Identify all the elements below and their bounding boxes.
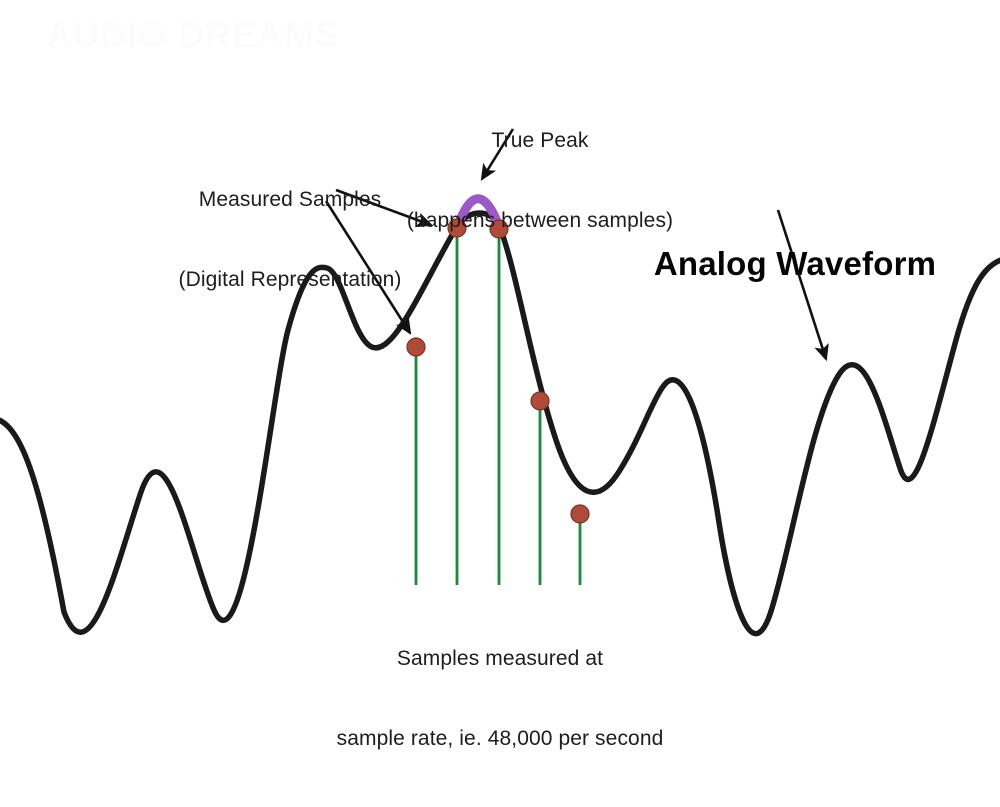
diagram-canvas: AUDIO DREAMS True Peak (happens between … [0, 0, 1000, 671]
measured-samples-label-line1: Measured Samples [110, 187, 470, 214]
measured-samples-label-line2: (Digital Representation) [110, 267, 470, 294]
analog-waveform-label: Analog Waveform [600, 159, 990, 370]
samples-measured-caption-line1: Samples measured at [310, 646, 690, 673]
measured-samples-label: Measured Samples (Digital Representation… [110, 133, 470, 348]
analog-waveform-label-line1: Analog Waveform [600, 243, 990, 285]
sample-dot-4 [531, 392, 549, 410]
sample-dot-5 [571, 505, 589, 523]
samples-measured-caption-line2: sample rate, ie. 48,000 per second [310, 726, 690, 753]
samples-measured-caption: Samples measured at sample rate, ie. 48,… [310, 592, 690, 807]
